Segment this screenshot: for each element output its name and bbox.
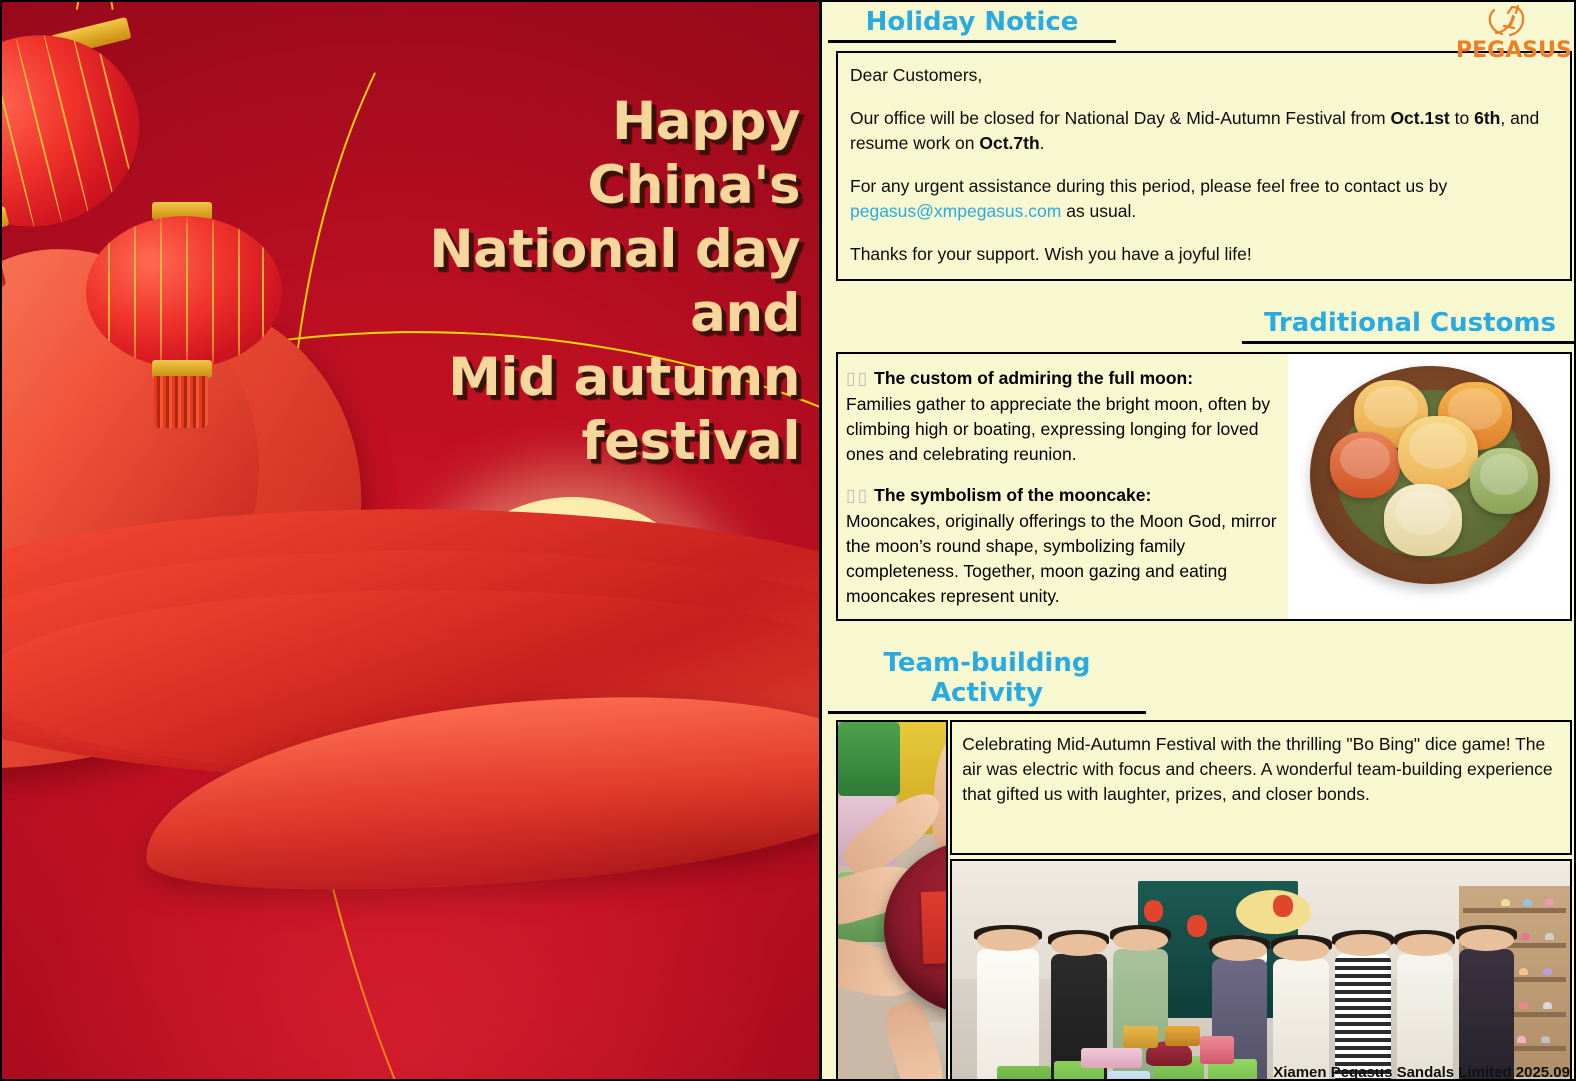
custom-item-moon: ▯▯ The custom of admiring the full moon:… xyxy=(846,366,1280,467)
custom-body-2: Mooncakes, originally offerings to the M… xyxy=(846,511,1277,606)
closure-date-start: Oct.1st xyxy=(1390,108,1449,128)
closure-date-end: 6th xyxy=(1474,108,1500,128)
footer-text: Xiamen Pegasus Sandals Limited 2025.09 xyxy=(1273,1064,1570,1081)
team-activity-box: Celebrating Mid-Autumn Festival with the… xyxy=(836,720,1572,1081)
newsletter-page: Happy China's National day and Mid autum… xyxy=(0,0,1576,1081)
resume-date: Oct.7th xyxy=(979,133,1039,153)
closure-period: . xyxy=(1040,133,1045,153)
pegasus-horse-icon xyxy=(1456,4,1568,38)
brand-name: PEGASUS xyxy=(1456,41,1568,61)
festival-poster: Happy China's National day and Mid autum… xyxy=(2,2,822,1081)
team-group-photo xyxy=(950,859,1572,1081)
poster-headline: Happy China's National day and Mid autum… xyxy=(252,90,800,474)
notice-contact: For any urgent assistance during this pe… xyxy=(850,174,1558,224)
contact-post: as usual. xyxy=(1061,201,1136,221)
notice-greeting: Dear Customers, xyxy=(850,63,1558,88)
notice-heading: Holiday Notice xyxy=(828,2,1116,43)
notice-closure: Our office will be closed for National D… xyxy=(850,106,1558,156)
custom-title-2: The symbolism of the mooncake: xyxy=(874,485,1151,505)
team-heading: Team-building Activity xyxy=(828,643,1146,714)
customs-heading: Traditional Customs xyxy=(1242,303,1576,344)
holiday-notice-box: Dear Customers, Our office will be close… xyxy=(836,51,1572,281)
team-description: Celebrating Mid-Autumn Festival with the… xyxy=(950,720,1572,855)
closure-mid: to xyxy=(1450,108,1474,128)
traditional-customs-box: ▯▯ The custom of admiring the full moon:… xyxy=(836,352,1572,621)
customs-text: ▯▯ The custom of admiring the full moon:… xyxy=(838,354,1288,619)
closure-pre: Our office will be closed for National D… xyxy=(850,108,1390,128)
contact-pre: For any urgent assistance during this pe… xyxy=(850,176,1447,196)
dice-game-photo xyxy=(836,720,948,1081)
content-panel: Holiday Notice Dear Customers, Our offic… xyxy=(828,2,1576,1081)
brand-logo: PEGASUS xyxy=(1456,4,1568,60)
team-heading-row: Team-building Activity xyxy=(828,643,1576,714)
notice-thanks: Thanks for your support. Wish you have a… xyxy=(850,242,1558,267)
custom-title-1: The custom of admiring the full moon: xyxy=(874,368,1193,388)
team-right-column: Celebrating Mid-Autumn Festival with the… xyxy=(950,720,1572,1081)
mooncake-photo xyxy=(1288,354,1570,619)
custom-body-1: Families gather to appreciate the bright… xyxy=(846,394,1270,464)
custom-item-mooncake: ▯▯ The symbolism of the mooncake: Moonca… xyxy=(846,483,1280,609)
contact-email-link[interactable]: pegasus@xmpegasus.com xyxy=(850,201,1061,221)
bullet-glyph-2: ▯▯ xyxy=(846,486,869,506)
customs-heading-row: Traditional Customs xyxy=(828,303,1576,344)
bullet-glyph-1: ▯▯ xyxy=(846,369,869,389)
